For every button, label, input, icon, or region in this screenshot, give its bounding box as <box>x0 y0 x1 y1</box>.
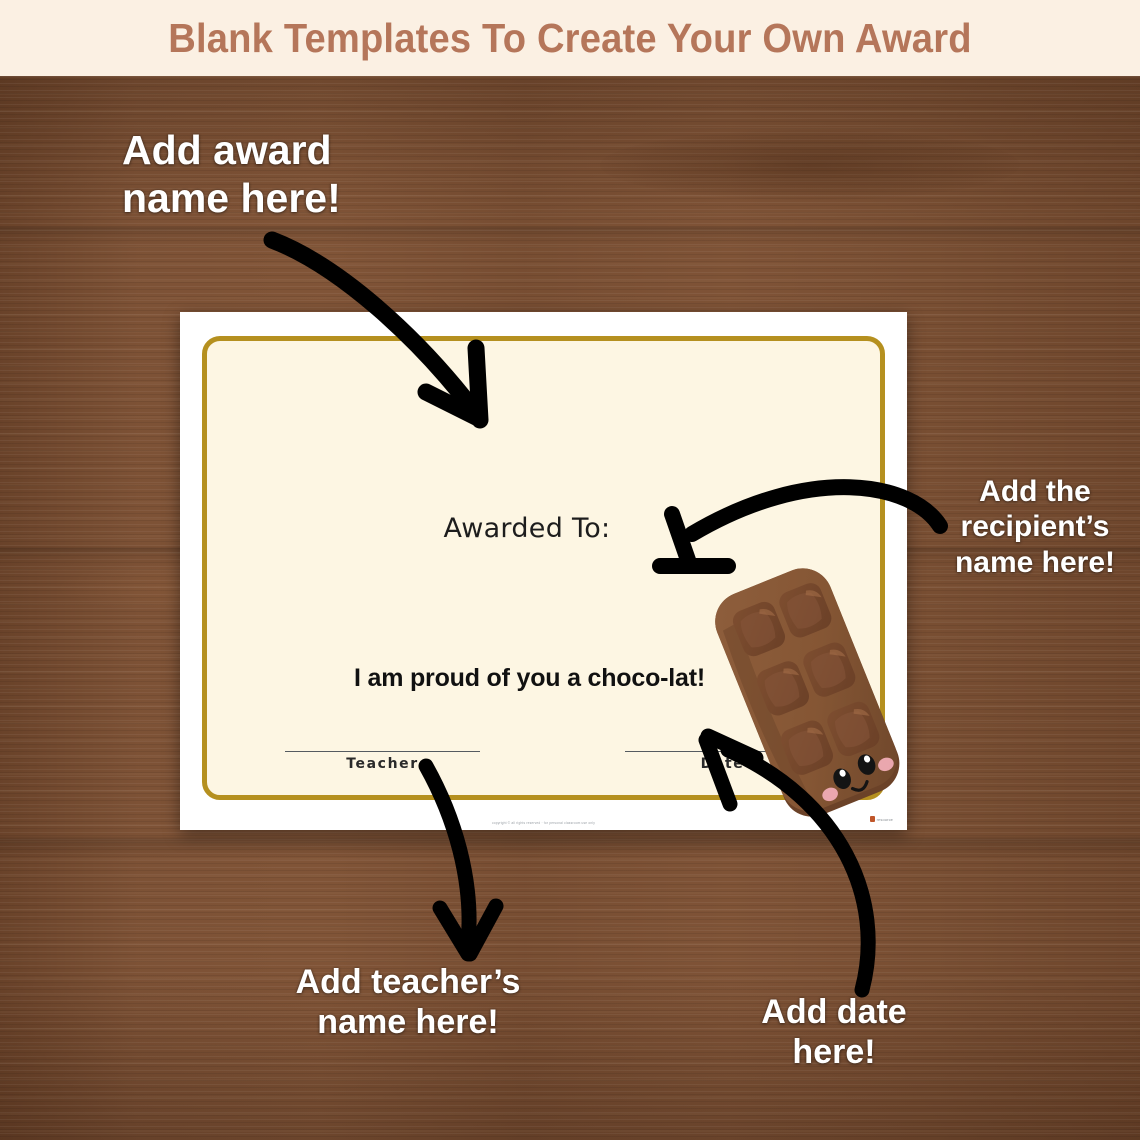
teacher-signature-line <box>285 751 480 752</box>
certificate-gold-border: Awarded To: I am proud of you a choco-la… <box>202 336 885 800</box>
callout-date: Add date here! <box>716 992 952 1072</box>
callout-recipient-name: Add the recipient’s name here! <box>930 474 1140 580</box>
publisher-logo: resource <box>870 816 893 822</box>
certificate-sheet: Awarded To: I am proud of you a choco-la… <box>180 312 907 830</box>
page-title: Blank Templates To Create Your Own Award <box>40 0 1100 76</box>
teacher-signature-field: Teacher <box>285 751 480 772</box>
logo-text: resource <box>877 817 893 822</box>
teacher-signature-label: Teacher <box>285 756 480 772</box>
callout-award-name: Add award name here! <box>122 126 452 223</box>
logo-mark-icon <box>870 816 875 822</box>
award-template-promo-image: Awarded To: I am proud of you a choco-la… <box>0 0 1140 1140</box>
date-signature-line <box>625 751 820 752</box>
award-message-text: I am proud of you a choco-lat! <box>207 664 852 693</box>
certificate-fine-print: copyright © all rights reserved · for pe… <box>180 821 907 825</box>
date-signature-label: Date <box>625 756 820 772</box>
awarded-to-label: Awarded To: <box>207 513 847 544</box>
date-signature-field: Date <box>625 751 820 772</box>
header-band: Blank Templates To Create Your Own Award <box>0 0 1140 76</box>
callout-teacher-name: Add teacher’s name here! <box>258 962 558 1042</box>
